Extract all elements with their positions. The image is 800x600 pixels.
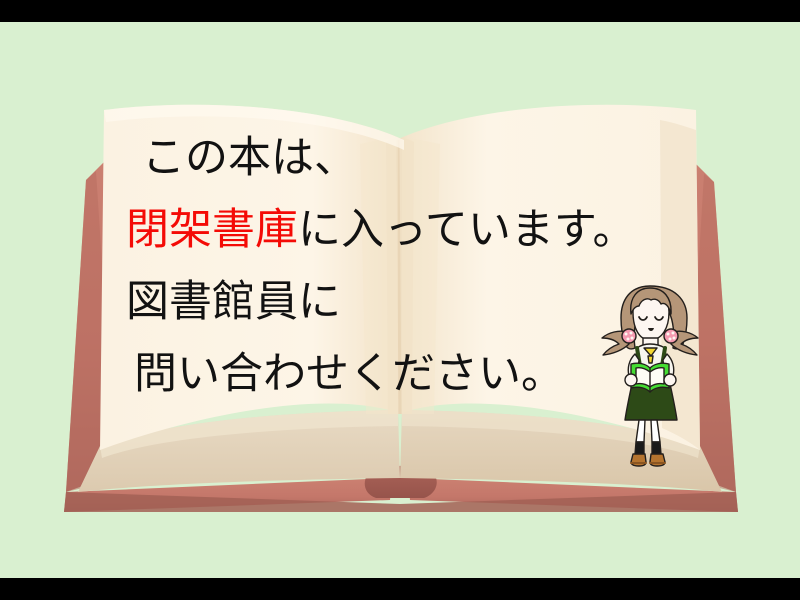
girl-right-leg	[651, 420, 660, 442]
girl-reading-illustration	[595, 270, 705, 470]
letterbox-bottom-bar	[0, 578, 800, 600]
girl-bow-tail	[648, 356, 653, 363]
girl-right-ankle-sock	[652, 442, 661, 454]
girl-left-shoe	[631, 454, 646, 466]
girl-right-shoe	[650, 454, 665, 466]
girl-left-ankle-sock	[635, 442, 644, 454]
letterbox-top-bar	[0, 0, 800, 22]
scene-stage: この本は、 閉架書庫に入っています。 図書館員に 問い合わせください。	[0, 0, 800, 600]
notice-line-2-highlight: 閉架書庫	[126, 205, 298, 255]
girl-right-hair-tie	[664, 329, 678, 343]
girl-left-hand	[625, 374, 637, 386]
girl-left-leg	[636, 420, 645, 442]
notice-line-2: 閉架書庫に入っています。	[126, 194, 686, 266]
notice-line-1: この本は、	[126, 122, 686, 194]
girl-right-hand	[664, 374, 676, 386]
notice-line-2-rest: に入っています。	[298, 205, 636, 255]
girl-left-hair-tie	[622, 329, 636, 343]
illustration-canvas: この本は、 閉架書庫に入っています。 図書館員に 問い合わせください。	[0, 22, 800, 578]
